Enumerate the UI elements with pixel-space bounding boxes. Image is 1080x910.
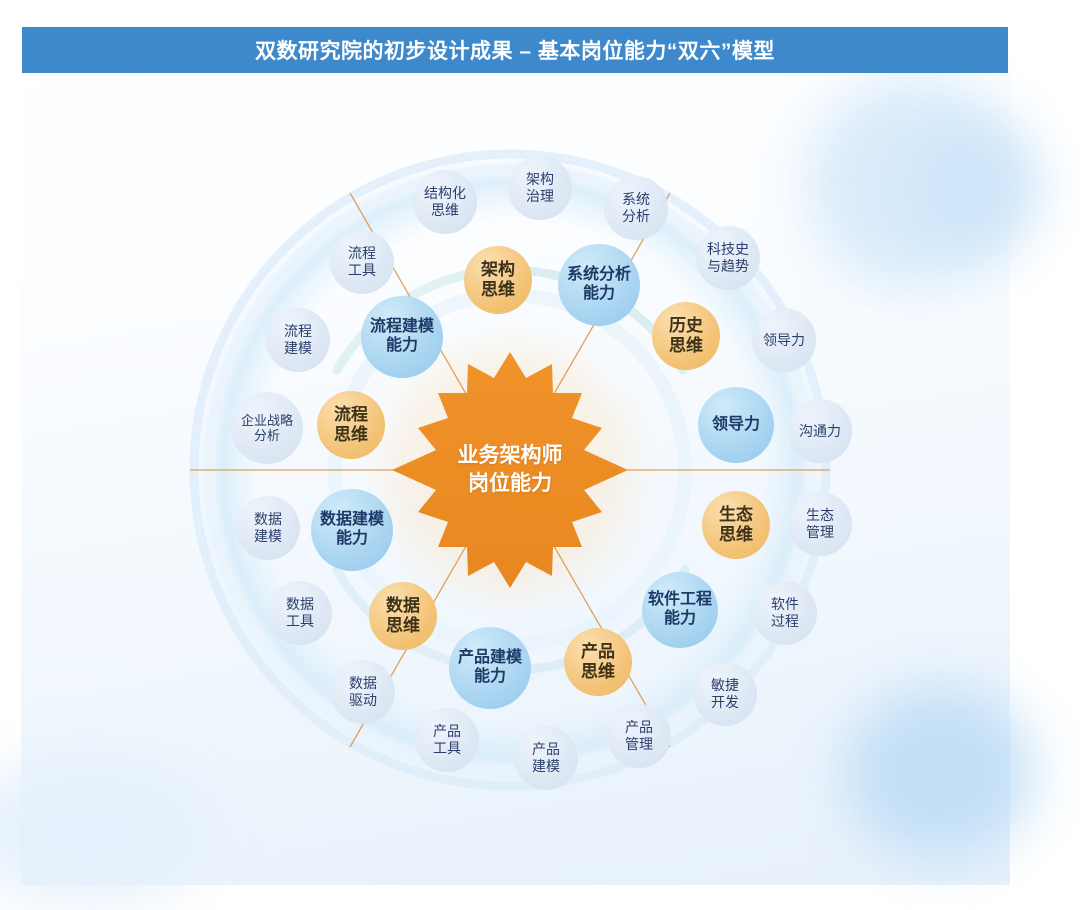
node-label: 领导力 xyxy=(712,416,760,435)
node-knowledge-history-0[interactable]: 科技史 与趋势 xyxy=(696,226,760,290)
node-thinking-history[interactable]: 历史 思维 xyxy=(652,302,720,370)
node-label: 系统分析 能力 xyxy=(567,266,631,304)
slide-page: 双数研究院的初步设计成果 – 基本岗位能力“双六”模型 xyxy=(0,0,1080,910)
node-ability-product[interactable]: 产品建模 能力 xyxy=(449,627,531,709)
node-label: 产品建模 能力 xyxy=(458,649,522,687)
center-label: 业务架构师 岗位能力 xyxy=(385,345,635,595)
node-label: 流程 建模 xyxy=(284,323,312,356)
background-blob-bottom-right xyxy=(845,687,1035,857)
center-line-2: 岗位能力 xyxy=(468,470,552,498)
node-label: 产品 建模 xyxy=(532,741,560,774)
node-label: 架构 治理 xyxy=(526,171,554,204)
node-knowledge-data-1[interactable]: 数据 工具 xyxy=(268,581,332,645)
node-label: 系统 分析 xyxy=(622,191,650,224)
node-label: 产品 管理 xyxy=(625,719,653,752)
node-label: 企业战略 分析 xyxy=(241,413,293,444)
center-burst: 业务架构师 岗位能力 xyxy=(385,345,635,595)
node-knowledge-product-1[interactable]: 产品 建模 xyxy=(514,726,578,790)
node-label: 数据 思维 xyxy=(386,596,420,636)
node-knowledge-process-2[interactable]: 企业战略 分析 xyxy=(231,392,303,464)
node-knowledge-product-0[interactable]: 产品 工具 xyxy=(415,708,479,772)
node-label: 流程 思维 xyxy=(334,405,368,445)
node-knowledge-ecology-2[interactable]: 敏捷 开发 xyxy=(693,662,757,726)
node-label: 沟通力 xyxy=(799,423,841,440)
center-line-1: 业务架构师 xyxy=(458,442,563,470)
background-blob-top-right-small xyxy=(910,122,1040,252)
node-label: 结构化 思维 xyxy=(424,185,466,218)
node-label: 产品 思维 xyxy=(581,642,615,682)
node-knowledge-ecology-1[interactable]: 软件 过程 xyxy=(753,581,817,645)
node-label: 数据 驱动 xyxy=(349,675,377,708)
slide-title: 双数研究院的初步设计成果 – 基本岗位能力“双六”模型 xyxy=(255,35,775,65)
node-label: 生态 思维 xyxy=(719,505,753,545)
node-label: 数据建模 能力 xyxy=(320,511,384,549)
node-ability-process[interactable]: 流程建模 能力 xyxy=(361,296,443,378)
node-thinking-product[interactable]: 产品 思维 xyxy=(564,628,632,696)
node-label: 产品 工具 xyxy=(433,723,461,756)
node-label: 流程 工具 xyxy=(348,245,376,278)
node-knowledge-architecture-1[interactable]: 架构 治理 xyxy=(508,156,572,220)
node-knowledge-ecology-0[interactable]: 生态 管理 xyxy=(788,492,852,556)
node-label: 数据 工具 xyxy=(286,596,314,629)
node-ability-ecology[interactable]: 软件工程 能力 xyxy=(642,572,718,648)
node-label: 数据 建模 xyxy=(254,511,282,544)
node-thinking-data[interactable]: 数据 思维 xyxy=(369,582,437,650)
node-label: 历史 思维 xyxy=(669,316,703,356)
node-knowledge-process-0[interactable]: 流程 工具 xyxy=(330,230,394,294)
node-knowledge-product-2[interactable]: 产品 管理 xyxy=(607,704,671,768)
node-knowledge-architecture-2[interactable]: 系统 分析 xyxy=(604,176,668,240)
node-label: 领导力 xyxy=(763,332,805,349)
node-knowledge-data-0[interactable]: 数据 建模 xyxy=(236,496,300,560)
node-knowledge-history-2[interactable]: 沟通力 xyxy=(788,399,852,463)
node-label: 科技史 与趋势 xyxy=(707,241,749,274)
node-thinking-process[interactable]: 流程 思维 xyxy=(317,391,385,459)
node-thinking-architecture[interactable]: 架构 思维 xyxy=(464,246,532,314)
node-label: 架构 思维 xyxy=(481,260,515,300)
node-ability-architecture[interactable]: 系统分析 能力 xyxy=(558,244,640,326)
node-knowledge-architecture-0[interactable]: 结构化 思维 xyxy=(413,170,477,234)
node-label: 生态 管理 xyxy=(806,507,834,540)
node-label: 流程建模 能力 xyxy=(370,318,434,356)
node-label: 软件 过程 xyxy=(771,596,799,629)
node-knowledge-process-1[interactable]: 流程 建模 xyxy=(266,308,330,372)
node-knowledge-history-1[interactable]: 领导力 xyxy=(752,308,816,372)
node-ability-data[interactable]: 数据建模 能力 xyxy=(311,489,393,571)
node-ability-history[interactable]: 领导力 xyxy=(698,387,774,463)
node-thinking-ecology[interactable]: 生态 思维 xyxy=(702,491,770,559)
node-label: 软件工程 能力 xyxy=(648,591,712,629)
capability-wheel: 业务架构师 岗位能力 架构 思维 系统分析 能力 结构化 思维 架构 治理 系统… xyxy=(180,140,840,800)
node-knowledge-data-2[interactable]: 数据 驱动 xyxy=(331,660,395,724)
node-label: 敏捷 开发 xyxy=(711,677,739,710)
slide-title-bar: 双数研究院的初步设计成果 – 基本岗位能力“双六”模型 xyxy=(22,27,1008,73)
